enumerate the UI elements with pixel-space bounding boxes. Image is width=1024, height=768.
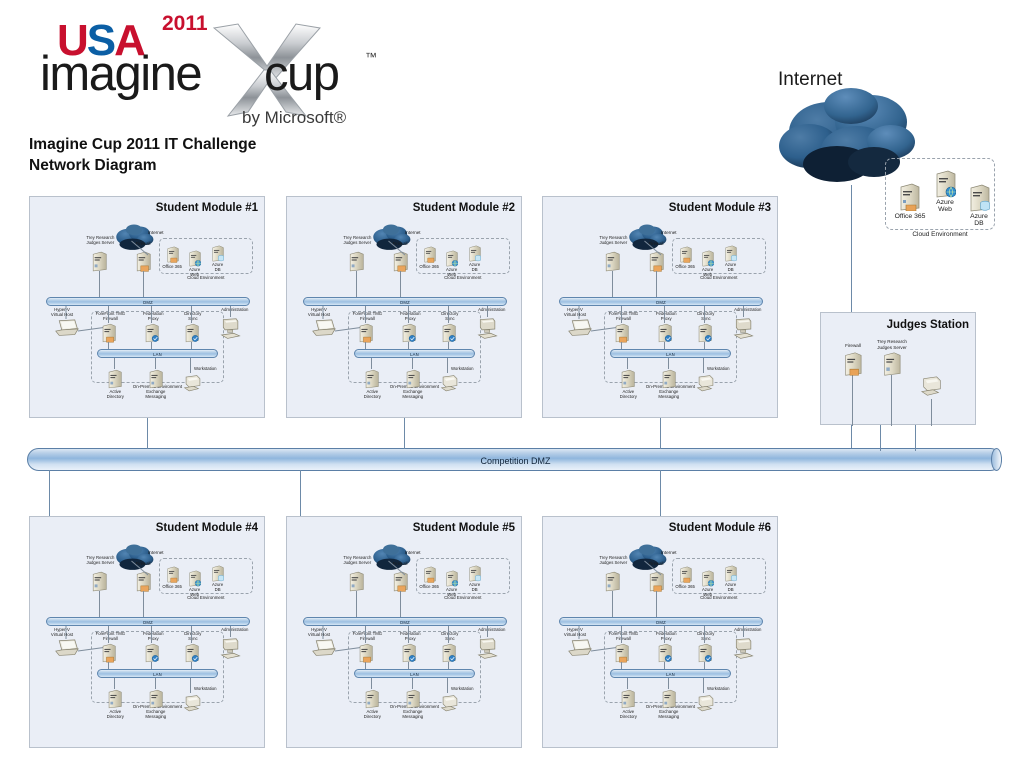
judges-server-line — [99, 271, 100, 297]
module-dmz-bus[interactable]: DMZ — [559, 617, 763, 626]
server-icon — [679, 566, 692, 583]
administration-workstation-icon — [732, 637, 756, 661]
active-directory-icon — [107, 689, 122, 709]
firewall-server-icon — [648, 571, 664, 592]
active-directory-lan-line — [371, 358, 372, 369]
azure-db-label: Azure DB — [206, 582, 230, 592]
module-lan-bus[interactable]: LAN — [354, 349, 474, 358]
server-icon — [679, 246, 692, 263]
exchange-messaging-label: Exchange Messaging — [649, 709, 689, 719]
directory-sync-lan-line — [448, 662, 449, 669]
active-directory-icon — [364, 369, 379, 389]
module-dmz-bus-label: DMZ — [304, 298, 506, 307]
server-db-icon — [724, 245, 737, 262]
server-db-icon — [211, 565, 224, 582]
logo-year: 2011 — [162, 12, 208, 36]
workstation-label: Workstation — [701, 686, 735, 691]
tmg-firewall-icon — [358, 323, 373, 343]
module3-dmz-riser — [660, 418, 661, 449]
tmg-firewall-lan-line — [108, 662, 109, 669]
server-icon — [166, 246, 179, 263]
directory-sync-dmz-line — [448, 306, 449, 323]
active-directory-lan-line — [371, 678, 372, 689]
module-title: Student Module #1 — [156, 202, 258, 214]
administration-label: Administration — [213, 627, 257, 632]
exchange-messaging-label: Exchange Messaging — [393, 389, 433, 399]
server-db-icon — [211, 245, 224, 262]
firewall-dmz-line — [400, 591, 401, 617]
module-dmz-bus[interactable]: DMZ — [559, 297, 763, 306]
exchange-messaging-lan-line — [412, 678, 413, 689]
trademark-icon: ™ — [365, 50, 377, 64]
tmg-firewall-lan-line — [365, 662, 366, 669]
hyperv-laptop-icon — [311, 639, 337, 658]
firewall-dmz-line — [656, 271, 657, 297]
internet-label: Internet — [148, 550, 188, 556]
federation-proxy-dmz-line — [151, 626, 152, 643]
module-dmz-bus-label: DMZ — [47, 298, 249, 307]
tmg-firewall-lan-line — [365, 342, 366, 349]
tmg-firewall-label: ForeFront TMG Firewall — [346, 311, 388, 321]
server-db-icon — [724, 565, 737, 582]
judges-workstation-line — [931, 399, 932, 426]
tmg-firewall-icon — [101, 323, 116, 343]
firewall-label: Firewall — [379, 561, 421, 566]
cloud-environment-label: Cloud Environment — [885, 231, 995, 238]
server-db-icon — [968, 184, 990, 212]
directory-sync-dmz-line — [704, 626, 705, 643]
active-directory-icon — [620, 369, 635, 389]
federation-proxy-label: Federation Proxy — [645, 311, 687, 321]
module-lan-bus[interactable]: LAN — [97, 349, 217, 358]
module-dmz-bus-label: DMZ — [560, 618, 762, 627]
federation-proxy-lan-line — [664, 662, 665, 669]
server-icon — [348, 251, 364, 272]
workstation-icon — [695, 694, 717, 714]
federation-proxy-label: Federation Proxy — [645, 631, 687, 641]
student-module-panel[interactable]: Student Module #3 InternetCloud Environm… — [542, 196, 778, 418]
federation-proxy-icon — [657, 643, 672, 663]
tmg-firewall-lan-line — [621, 662, 622, 669]
azure-db-label: Azure DB — [959, 213, 999, 227]
logo-imagine-text: imagine — [40, 46, 201, 102]
server-icon — [882, 351, 901, 377]
federation-proxy-lan-line — [151, 342, 152, 349]
internet-label: Internet — [405, 230, 445, 236]
student-module-panel[interactable]: Student Module #2 InternetCloud Environm… — [286, 196, 522, 418]
federation-proxy-dmz-line — [664, 626, 665, 643]
exchange-messaging-lan-line — [668, 358, 669, 369]
module-dmz-bus[interactable]: DMZ — [303, 297, 507, 306]
server-globe-icon — [445, 570, 458, 587]
module-lan-bus-label: LAN — [355, 350, 473, 359]
exchange-messaging-icon — [661, 689, 676, 709]
administration-dmz-line — [230, 306, 231, 317]
azure-web-label: Azure Web — [696, 267, 720, 277]
tmg-firewall-dmz-line — [108, 306, 109, 323]
server-globe-icon — [934, 170, 956, 198]
firewall-dmz-line — [143, 591, 144, 617]
active-directory-icon — [107, 369, 122, 389]
firewall-server-icon — [392, 571, 408, 592]
judges-server-line — [612, 271, 613, 297]
federation-proxy-dmz-line — [408, 306, 409, 323]
hyperv-laptop-icon — [54, 639, 80, 658]
module-dmz-bus[interactable]: DMZ — [46, 297, 250, 306]
module-title: Student Module #4 — [156, 522, 258, 534]
firewall-server-icon — [843, 351, 862, 377]
judges-server-label: Trey Research Judges Server — [866, 339, 918, 350]
firewall-dmz-line — [400, 271, 401, 297]
workstation-lan-line — [703, 678, 704, 693]
workstation-lan-line — [447, 678, 448, 693]
administration-dmz-line — [487, 626, 488, 637]
federation-proxy-label: Federation Proxy — [389, 631, 431, 641]
module-lan-bus[interactable]: LAN — [610, 669, 730, 678]
module5-dmz-riser — [300, 470, 301, 516]
tmg-firewall-label: ForeFront TMG Firewall — [346, 631, 388, 641]
directory-sync-label: Directory Sync — [685, 631, 727, 641]
active-directory-label: Active Directory — [608, 709, 648, 719]
judges-riser-extra — [880, 425, 881, 451]
federation-proxy-icon — [144, 323, 159, 343]
firewall-dmz-line — [656, 591, 657, 617]
workstation-lan-line — [190, 678, 191, 693]
active-directory-lan-line — [114, 678, 115, 689]
workstation-label: Workstation — [701, 366, 735, 371]
workstation-icon — [439, 694, 461, 714]
directory-sync-label: Directory Sync — [172, 311, 214, 321]
directory-sync-lan-line — [191, 662, 192, 669]
administration-label: Administration — [726, 307, 770, 312]
azure-db-label: Azure DB — [463, 582, 487, 592]
exchange-messaging-icon — [148, 369, 163, 389]
directory-sync-label: Directory Sync — [172, 631, 214, 641]
judges-server-label: Trey Research Judges Server — [332, 235, 382, 245]
directory-sync-dmz-line — [448, 626, 449, 643]
module-dmz-bus[interactable]: DMZ — [303, 617, 507, 626]
internet-to-judges-line — [851, 185, 852, 318]
hyperv-label: Hyper-V Virtual Host — [42, 627, 82, 637]
judges-riser-extra2 — [915, 425, 916, 451]
student-module-panel[interactable]: Student Module #1 InternetCloud Environm… — [29, 196, 265, 418]
firewall-server-icon — [135, 571, 151, 592]
directory-sync-icon — [184, 323, 199, 343]
exchange-messaging-label: Exchange Messaging — [136, 709, 176, 719]
judges-server-line — [99, 591, 100, 617]
module-lan-bus-label: LAN — [611, 670, 729, 679]
competition-dmz-label: Competition DMZ — [28, 449, 1003, 472]
module-lan-bus-label: LAN — [611, 350, 729, 359]
internet-label: Internet — [661, 230, 701, 236]
federation-proxy-icon — [144, 643, 159, 663]
azure-db-label: Azure DB — [719, 262, 743, 272]
administration-workstation-icon — [732, 317, 756, 341]
workstation-icon — [182, 694, 204, 714]
directory-sync-lan-line — [191, 342, 192, 349]
module-title: Student Module #3 — [669, 202, 771, 214]
firewall-label: Firewall — [635, 561, 677, 566]
firewall-label: Firewall — [379, 241, 421, 246]
hyperv-label: Hyper-V Virtual Host — [42, 307, 82, 317]
logo-cup-text: cup — [264, 46, 339, 102]
active-directory-icon — [364, 689, 379, 709]
exchange-messaging-lan-line — [412, 358, 413, 369]
directory-sync-icon — [184, 643, 199, 663]
federation-proxy-label: Federation Proxy — [132, 311, 174, 321]
azure-web-label: Azure Web — [440, 267, 464, 277]
azure-db-label: Azure DB — [719, 582, 743, 592]
firewall-server-icon — [648, 251, 664, 272]
server-globe-icon — [701, 250, 714, 267]
hyperv-laptop-icon — [54, 319, 80, 338]
tmg-firewall-dmz-line — [365, 306, 366, 323]
server-icon — [91, 571, 107, 592]
judges-station-panel[interactable]: Judges Station Firewall Trey Research Ju… — [820, 312, 976, 425]
student-module-panel[interactable]: Student Module #4 InternetCloud Environm… — [29, 516, 265, 748]
azure-db-label: Azure DB — [463, 262, 487, 272]
imagine-cup-logo: USA 2011 imagine cup ™ by Microsoft® — [32, 8, 372, 130]
federation-proxy-lan-line — [408, 342, 409, 349]
workstation-icon — [695, 374, 717, 394]
administration-dmz-line — [487, 306, 488, 317]
judges-server-label: Trey Research Judges Server — [75, 555, 125, 565]
active-directory-label: Active Directory — [352, 389, 392, 399]
active-directory-lan-line — [114, 358, 115, 369]
logo-by-microsoft: by Microsoft® — [242, 108, 346, 128]
module2-dmz-riser — [404, 418, 405, 449]
server-icon — [166, 566, 179, 583]
azure-web-label: Azure Web — [440, 587, 464, 597]
workstation-icon — [439, 374, 461, 394]
federation-proxy-lan-line — [408, 662, 409, 669]
administration-label: Administration — [470, 627, 514, 632]
judges-server-line — [612, 591, 613, 617]
active-directory-label: Active Directory — [95, 709, 135, 719]
hyperv-laptop-icon — [311, 319, 337, 338]
exchange-messaging-lan-line — [155, 358, 156, 369]
workstation-label: Workstation — [188, 366, 222, 371]
tmg-firewall-dmz-line — [621, 626, 622, 643]
federation-proxy-dmz-line — [664, 306, 665, 323]
tmg-firewall-label: ForeFront TMG Firewall — [602, 631, 644, 641]
judges-server-line — [356, 271, 357, 297]
directory-sync-lan-line — [448, 342, 449, 349]
azure-web-label: Azure Web — [696, 587, 720, 597]
firewall-label: Firewall — [635, 241, 677, 246]
azure-db-label: Azure DB — [206, 262, 230, 272]
module-dmz-bus-label: DMZ — [560, 298, 762, 307]
active-directory-label: Active Directory — [95, 389, 135, 399]
administration-dmz-line — [230, 626, 231, 637]
server-db-icon — [468, 565, 481, 582]
hyperv-label: Hyper-V Virtual Host — [299, 627, 339, 637]
federation-proxy-dmz-line — [151, 306, 152, 323]
tmg-firewall-lan-line — [621, 342, 622, 349]
module-title: Student Module #2 — [413, 202, 515, 214]
server-icon — [348, 571, 364, 592]
administration-dmz-line — [743, 306, 744, 317]
directory-sync-icon — [441, 323, 456, 343]
directory-sync-label: Directory Sync — [429, 631, 471, 641]
directory-sync-dmz-line — [704, 306, 705, 323]
tmg-firewall-label: ForeFront TMG Firewall — [89, 311, 131, 321]
federation-proxy-label: Federation Proxy — [132, 631, 174, 641]
module-lan-bus[interactable]: LAN — [354, 669, 474, 678]
exchange-messaging-icon — [405, 689, 420, 709]
server-globe-icon — [445, 250, 458, 267]
active-directory-lan-line — [627, 678, 628, 689]
exchange-messaging-icon — [661, 369, 676, 389]
exchange-messaging-icon — [405, 369, 420, 389]
azure-web-label: Azure Web — [925, 199, 965, 213]
tmg-firewall-label: ForeFront TMG Firewall — [602, 311, 644, 321]
office365-label: Office 365 — [884, 213, 936, 220]
exchange-messaging-label: Exchange Messaging — [649, 389, 689, 399]
judges-server-label: Trey Research Judges Server — [75, 235, 125, 245]
workstation-label: Workstation — [445, 366, 479, 371]
server-globe-icon — [188, 570, 201, 587]
workstation-icon — [182, 374, 204, 394]
module-dmz-bus[interactable]: DMZ — [46, 617, 250, 626]
active-directory-label: Active Directory — [352, 709, 392, 719]
hyperv-laptop-icon — [567, 319, 593, 338]
judges-station-title: Judges Station — [887, 319, 969, 331]
tmg-firewall-lan-line — [108, 342, 109, 349]
server-icon — [604, 251, 620, 272]
directory-sync-lan-line — [704, 342, 705, 349]
server-db-icon — [468, 245, 481, 262]
federation-proxy-label: Federation Proxy — [389, 311, 431, 321]
directory-sync-dmz-line — [191, 626, 192, 643]
federation-proxy-lan-line — [664, 342, 665, 349]
tmg-firewall-dmz-line — [365, 626, 366, 643]
exchange-messaging-label: Exchange Messaging — [393, 709, 433, 719]
diagram-canvas: USA 2011 imagine cup ™ by Microsoft® Ima… — [0, 0, 1024, 768]
tmg-firewall-icon — [101, 643, 116, 663]
page-title: Imagine Cup 2011 IT Challenge Network Di… — [29, 134, 256, 177]
module-lan-bus[interactable]: LAN — [97, 669, 217, 678]
administration-workstation-icon — [219, 317, 243, 341]
directory-sync-label: Directory Sync — [685, 311, 727, 321]
workstation-label: Workstation — [445, 686, 479, 691]
federation-proxy-lan-line — [151, 662, 152, 669]
module-lan-bus[interactable]: LAN — [610, 349, 730, 358]
hyperv-label: Hyper-V Virtual Host — [555, 307, 595, 317]
server-globe-icon — [701, 570, 714, 587]
module-lan-bus-label: LAN — [98, 350, 216, 359]
student-module-panel[interactable]: Student Module #5 InternetCloud Environm… — [286, 516, 522, 748]
workstation-lan-line — [447, 358, 448, 373]
module-dmz-bus-label: DMZ — [304, 618, 506, 627]
federation-proxy-icon — [401, 643, 416, 663]
exchange-messaging-lan-line — [668, 678, 669, 689]
federation-proxy-icon — [401, 323, 416, 343]
workstation-lan-line — [703, 358, 704, 373]
directory-sync-icon — [697, 323, 712, 343]
server-icon — [423, 566, 436, 583]
judges-server-line — [356, 591, 357, 617]
active-directory-icon — [620, 689, 635, 709]
tmg-firewall-icon — [614, 323, 629, 343]
server-globe-icon — [188, 250, 201, 267]
workstation-lan-line — [190, 358, 191, 373]
azure-web-label: Azure Web — [183, 587, 207, 597]
competition-dmz-bus[interactable]: Competition DMZ — [27, 448, 1002, 471]
module-dmz-bus-label: DMZ — [47, 618, 249, 627]
directory-sync-lan-line — [704, 662, 705, 669]
tmg-firewall-label: ForeFront TMG Firewall — [89, 631, 131, 641]
administration-dmz-line — [743, 626, 744, 637]
active-directory-label: Active Directory — [608, 389, 648, 399]
module-lan-bus-label: LAN — [355, 670, 473, 679]
module1-dmz-riser — [147, 418, 148, 449]
directory-sync-icon — [697, 643, 712, 663]
azure-web-label: Azure Web — [183, 267, 207, 277]
firewall-label: Firewall — [122, 561, 164, 566]
workstation-label: Workstation — [188, 686, 222, 691]
workstation-icon — [920, 375, 944, 399]
firewall-label: Firewall — [122, 241, 164, 246]
administration-workstation-icon — [219, 637, 243, 661]
administration-workstation-icon — [476, 317, 500, 341]
active-directory-lan-line — [627, 358, 628, 369]
exchange-messaging-lan-line — [155, 678, 156, 689]
administration-label: Administration — [726, 627, 770, 632]
hyperv-label: Hyper-V Virtual Host — [299, 307, 339, 317]
tmg-firewall-dmz-line — [108, 626, 109, 643]
federation-proxy-icon — [657, 323, 672, 343]
directory-sync-dmz-line — [191, 306, 192, 323]
exchange-messaging-label: Exchange Messaging — [136, 389, 176, 399]
administration-label: Administration — [213, 307, 257, 312]
student-module-panel[interactable]: Student Module #6 InternetCloud Environm… — [542, 516, 778, 748]
module4-dmz-riser — [49, 470, 50, 516]
administration-workstation-icon — [476, 637, 500, 661]
judges-server-line — [891, 375, 892, 426]
internet-label: Internet — [405, 550, 445, 556]
server-icon — [91, 251, 107, 272]
server-icon — [604, 571, 620, 592]
judges-server-label: Trey Research Judges Server — [588, 235, 638, 245]
tmg-firewall-icon — [358, 643, 373, 663]
module6-dmz-riser — [660, 470, 661, 516]
exchange-messaging-icon — [148, 689, 163, 709]
judges-to-dmz-line — [851, 424, 852, 451]
directory-sync-label: Directory Sync — [429, 311, 471, 321]
judges-firewall-line — [852, 375, 853, 426]
tmg-firewall-icon — [614, 643, 629, 663]
firewall-server-icon — [392, 251, 408, 272]
internet-label: Internet — [148, 230, 188, 236]
judges-server-label: Trey Research Judges Server — [332, 555, 382, 565]
module-lan-bus-label: LAN — [98, 670, 216, 679]
directory-sync-icon — [441, 643, 456, 663]
internet-label: Internet — [661, 550, 701, 556]
hyperv-label: Hyper-V Virtual Host — [555, 627, 595, 637]
administration-label: Administration — [470, 307, 514, 312]
module-title: Student Module #5 — [413, 522, 515, 534]
server-icon — [898, 183, 920, 211]
federation-proxy-dmz-line — [408, 626, 409, 643]
firewall-dmz-line — [143, 271, 144, 297]
server-icon — [423, 246, 436, 263]
judges-server-label: Trey Research Judges Server — [588, 555, 638, 565]
tmg-firewall-dmz-line — [621, 306, 622, 323]
firewall-server-icon — [135, 251, 151, 272]
hyperv-laptop-icon — [567, 639, 593, 658]
module-title: Student Module #6 — [669, 522, 771, 534]
